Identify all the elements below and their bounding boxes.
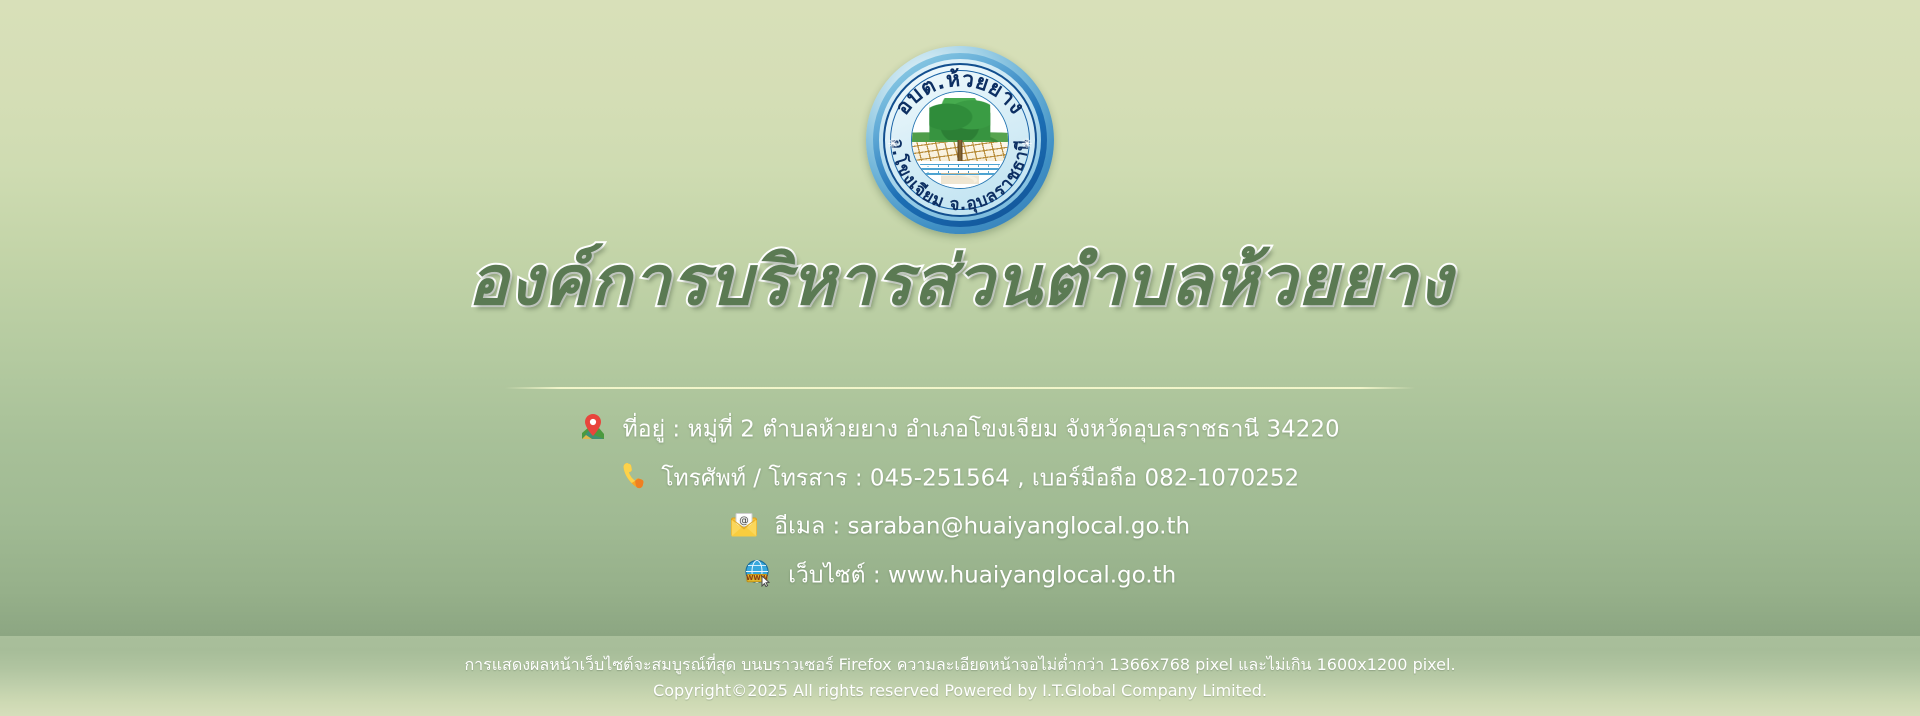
seal-star-right-icon: ✳ [1021,138,1033,150]
svg-text:อบต.ห้วยยาง: อบต.ห้วยยาง [890,67,1030,120]
contact-email-text: อีเมล : saraban@huaiyanglocal.go.th [774,514,1190,540]
globe-www-icon: WWW [744,559,772,587]
footer-copyright: Copyright©2025 All rights reserved Power… [0,678,1920,704]
contact-phone-line: โทรศัพท์ / โทรสาร : 045-251564 , เบอร์มื… [0,454,1920,503]
organization-logo[interactable]: อบต.ห้วยยาง อ.โขงเจียม จ.อุบลราชธานี ✳ ✳ [866,46,1054,234]
horizontal-divider [505,387,1415,389]
seal-arc-bottom-label: อ.โขงเจียม จ.อุบลราชธานี [887,138,1033,215]
contact-website-text: เว็บไซต์ : www.huaiyanglocal.go.th [788,562,1176,588]
map-pin-icon [580,413,606,441]
seal-arc-top-label: อบต.ห้วยยาง [890,67,1030,120]
contact-address-text: ที่อยู่ : หมู่ที่ 2 ตำบลห้วยยาง อำเภอโขง… [623,417,1340,443]
svg-text:@: @ [739,516,749,527]
footer-browser-notice: การแสดงผลหน้าเว็บไซต์จะสมบูรณ์ที่สุด บนบ… [0,652,1920,678]
site-footer-page: อบต.ห้วยยาง อ.โขงเจียม จ.อุบลราชธานี ✳ ✳… [0,0,1920,716]
seal-star-left-icon: ✳ [887,138,899,150]
footer-text-block: การแสดงผลหน้าเว็บไซต์จะสมบูรณ์ที่สุด บนบ… [0,652,1920,704]
svg-text:อ.โขงเจียม จ.อุบลราชธานี: อ.โขงเจียม จ.อุบลราชธานี [887,138,1033,215]
contact-email-line: @ อีเมล : saraban@huaiyanglocal.go.th [0,502,1920,551]
contact-phone-text: โทรศัพท์ / โทรสาร : 045-251564 , เบอร์มื… [661,465,1299,491]
telephone-icon [621,462,645,490]
contact-address-line: ที่อยู่ : หมู่ที่ 2 ตำบลห้วยยาง อำเภอโขง… [0,405,1920,454]
envelope-icon: @ [730,512,758,538]
page-title: องค์การบริหารส่วนตำบลห้วยยาง [0,246,1920,317]
contact-info-block: ที่อยู่ : หมู่ที่ 2 ตำบลห้วยยาง อำเภอโขง… [0,405,1920,599]
contact-website-line: WWW เว็บไซต์ : www.huaiyanglocal.go.th [0,551,1920,600]
